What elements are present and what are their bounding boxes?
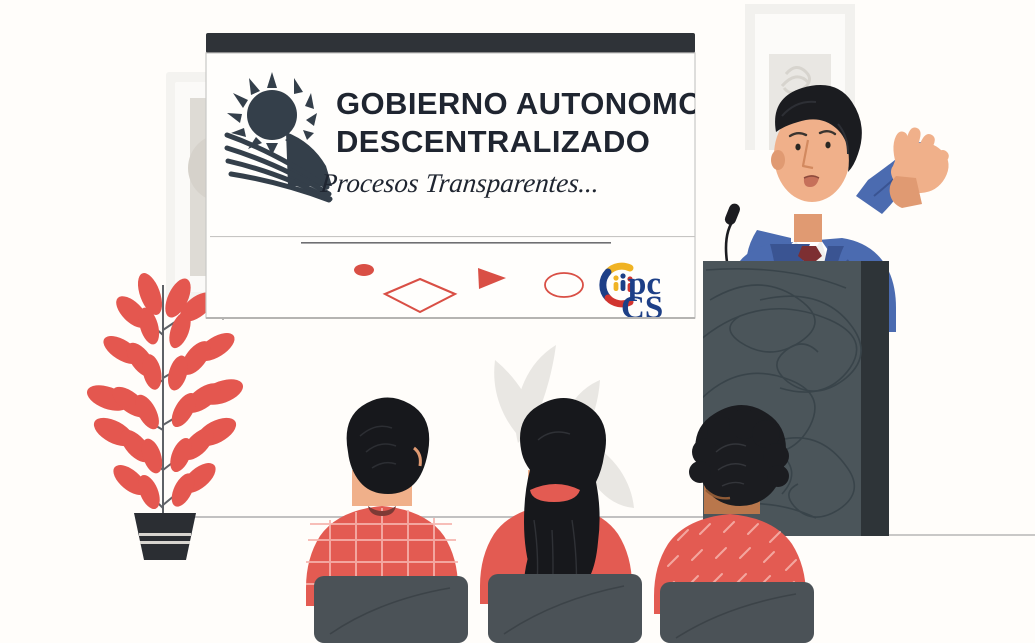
screen-tagline: Procesos Transparentes... (318, 168, 601, 198)
divider-main (301, 242, 611, 244)
sun-disc-icon (247, 90, 297, 140)
speaker-neck (794, 214, 822, 242)
screen-heading-line1: GOBIERNO AUTONOMO (336, 86, 703, 121)
divider-top (210, 236, 695, 237)
audience-left-chair (314, 576, 468, 643)
plant-pot (134, 513, 196, 560)
screen-top-bar (206, 33, 695, 53)
floor-line-right (885, 534, 1035, 536)
podium-side (861, 261, 889, 536)
screen-heading-line2: DESCENTRALIZADO (336, 124, 650, 159)
shape-dot (354, 264, 374, 276)
audience-left-hair (347, 397, 430, 494)
projection-screen: GOBIERNO AUTONOMO DESCENTRALIZADO Proces… (206, 33, 703, 326)
audience-center-chair (488, 574, 642, 643)
floor-line (180, 516, 720, 518)
presentation-illustration: GOBIERNO AUTONOMO DESCENTRALIZADO Proces… (0, 0, 1035, 643)
